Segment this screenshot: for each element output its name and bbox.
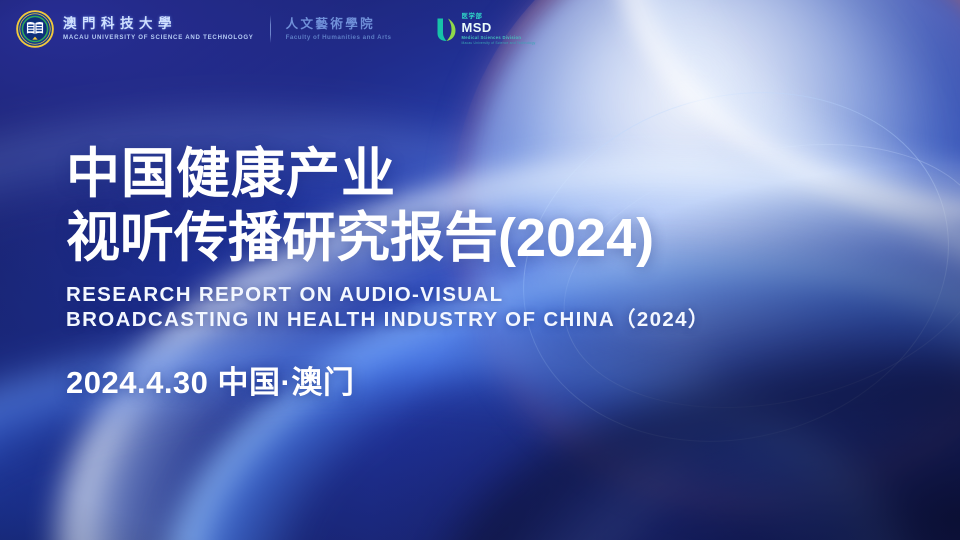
university-seal-icon — [16, 10, 54, 48]
faculty-name-en: Faculty of Humanities and Arts — [286, 33, 392, 42]
presentation-cover-slide: 澳門科技大學 MACAU UNIVERSITY OF SCIENCE AND T… — [0, 0, 960, 540]
msd-logo: 医学部 MSD Medical Sciences Division Macau … — [436, 13, 536, 46]
logo-bar: 澳門科技大學 MACAU UNIVERSITY OF SCIENCE AND T… — [16, 9, 535, 49]
vertical-divider-icon — [270, 15, 271, 43]
faculty-logo: 人文藝術學院 Faculty of Humanities and Arts — [286, 17, 392, 42]
date-location: 2024.4.30 中国·澳门 — [66, 363, 710, 403]
university-name-cn: 澳門科技大學 — [63, 16, 254, 32]
faculty-name-cn: 人文藝術學院 — [286, 17, 392, 32]
university-name-group: 澳門科技大學 MACAU UNIVERSITY OF SCIENCE AND T… — [63, 16, 254, 42]
title-cn-line-1: 中国健康产业 — [66, 142, 710, 206]
msd-text-group: 医学部 MSD Medical Sciences Division Macau … — [462, 13, 536, 46]
title-en-line-1: RESEARCH REPORT ON AUDIO-VISUAL — [66, 282, 710, 307]
university-logo: 澳門科技大學 MACAU UNIVERSITY OF SCIENCE AND T… — [16, 10, 254, 48]
msd-abbreviation: MSD — [462, 21, 536, 35]
msd-subtitle-cn: Macau University of Science and Technolo… — [462, 41, 536, 46]
university-name-en: MACAU UNIVERSITY OF SCIENCE AND TECHNOLO… — [63, 33, 254, 42]
title-cn-line-2: 视听传播研究报告(2024) — [66, 206, 710, 270]
msd-leaf-mark-icon — [436, 17, 457, 42]
title-block: 中国健康产业 视听传播研究报告(2024) RESEARCH REPORT ON… — [66, 142, 710, 403]
title-en-line-2: BROADCASTING IN HEALTH INDUSTRY OF CHINA… — [66, 307, 710, 332]
